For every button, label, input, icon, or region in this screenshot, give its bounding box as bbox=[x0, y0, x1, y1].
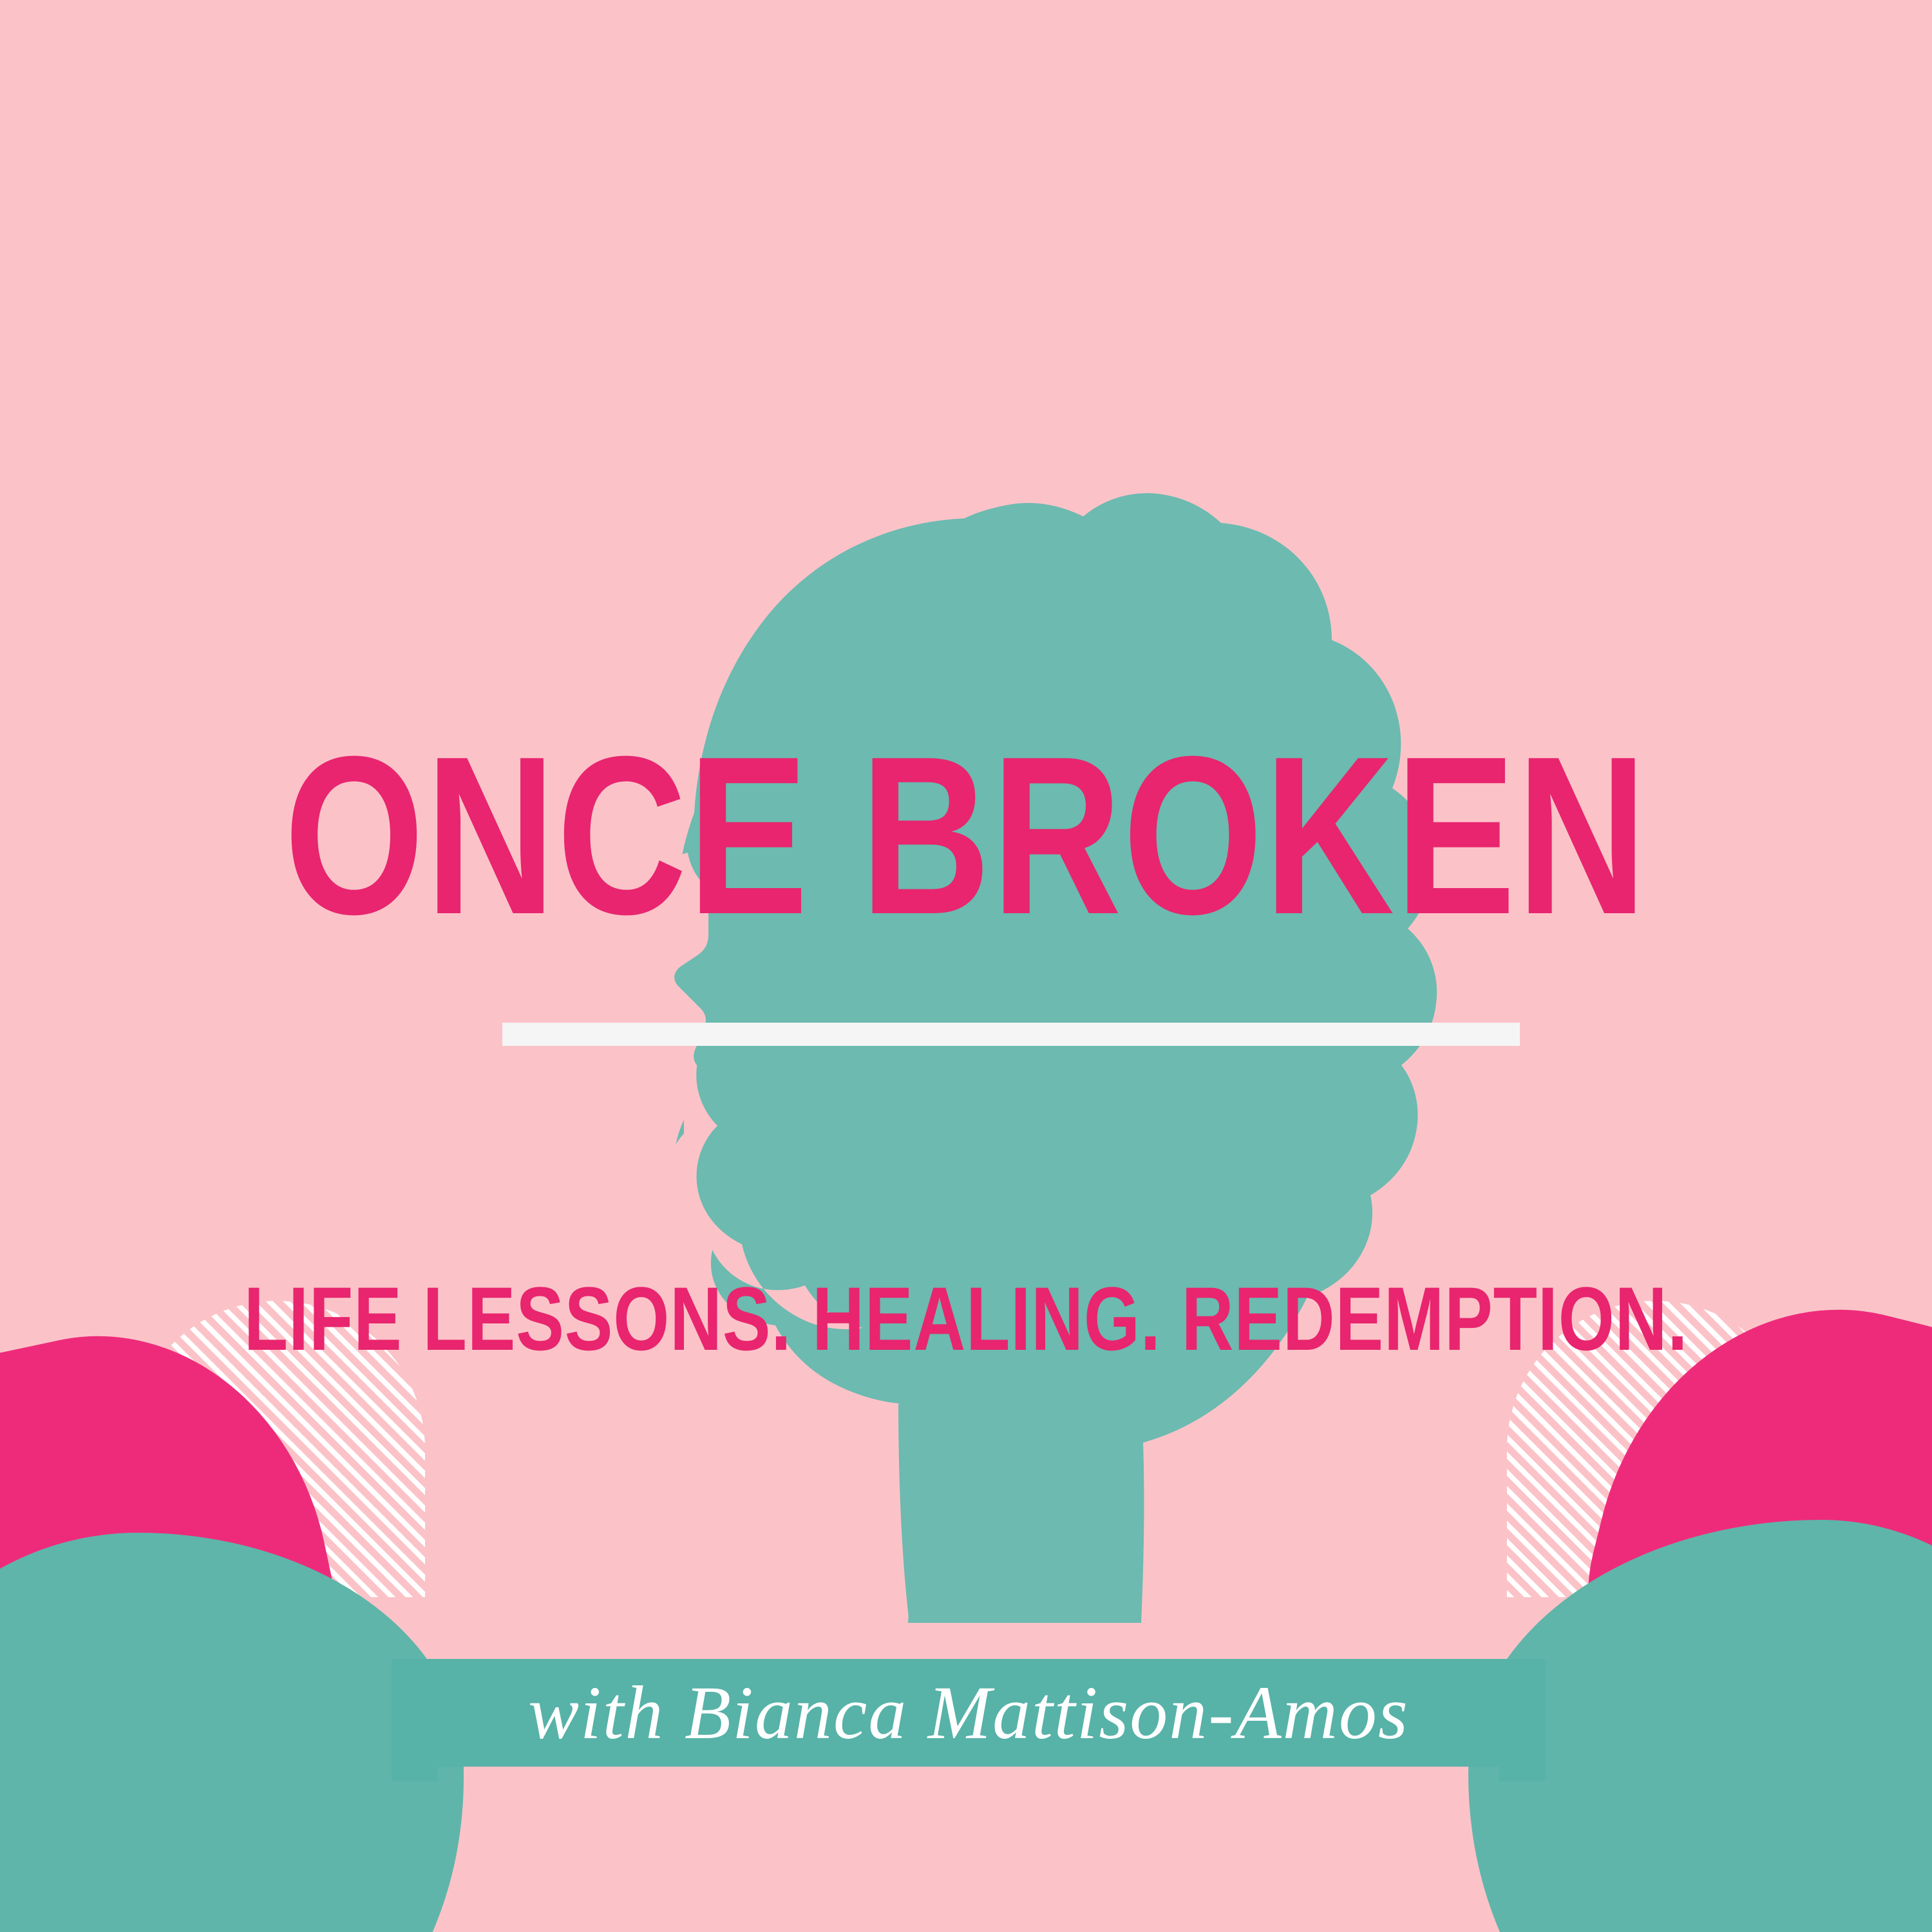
horizontal-rule-divider bbox=[502, 1023, 1520, 1046]
head-silhouette-icon bbox=[0, 0, 1932, 1932]
host-banner-content: with Bianca Mattison-Amos bbox=[392, 1659, 1546, 1767]
podcast-cover-art: ONCE BROKEN LIFE LESSONS. HEALING. REDEM… bbox=[0, 0, 1932, 1932]
host-name-label: with Bianca Mattison-Amos bbox=[528, 1669, 1409, 1757]
page-title: ONCE BROKEN bbox=[193, 739, 1739, 933]
subtitle-tagline: LIFE LESSONS. HEALING. REDEMPTION. bbox=[193, 1274, 1739, 1364]
